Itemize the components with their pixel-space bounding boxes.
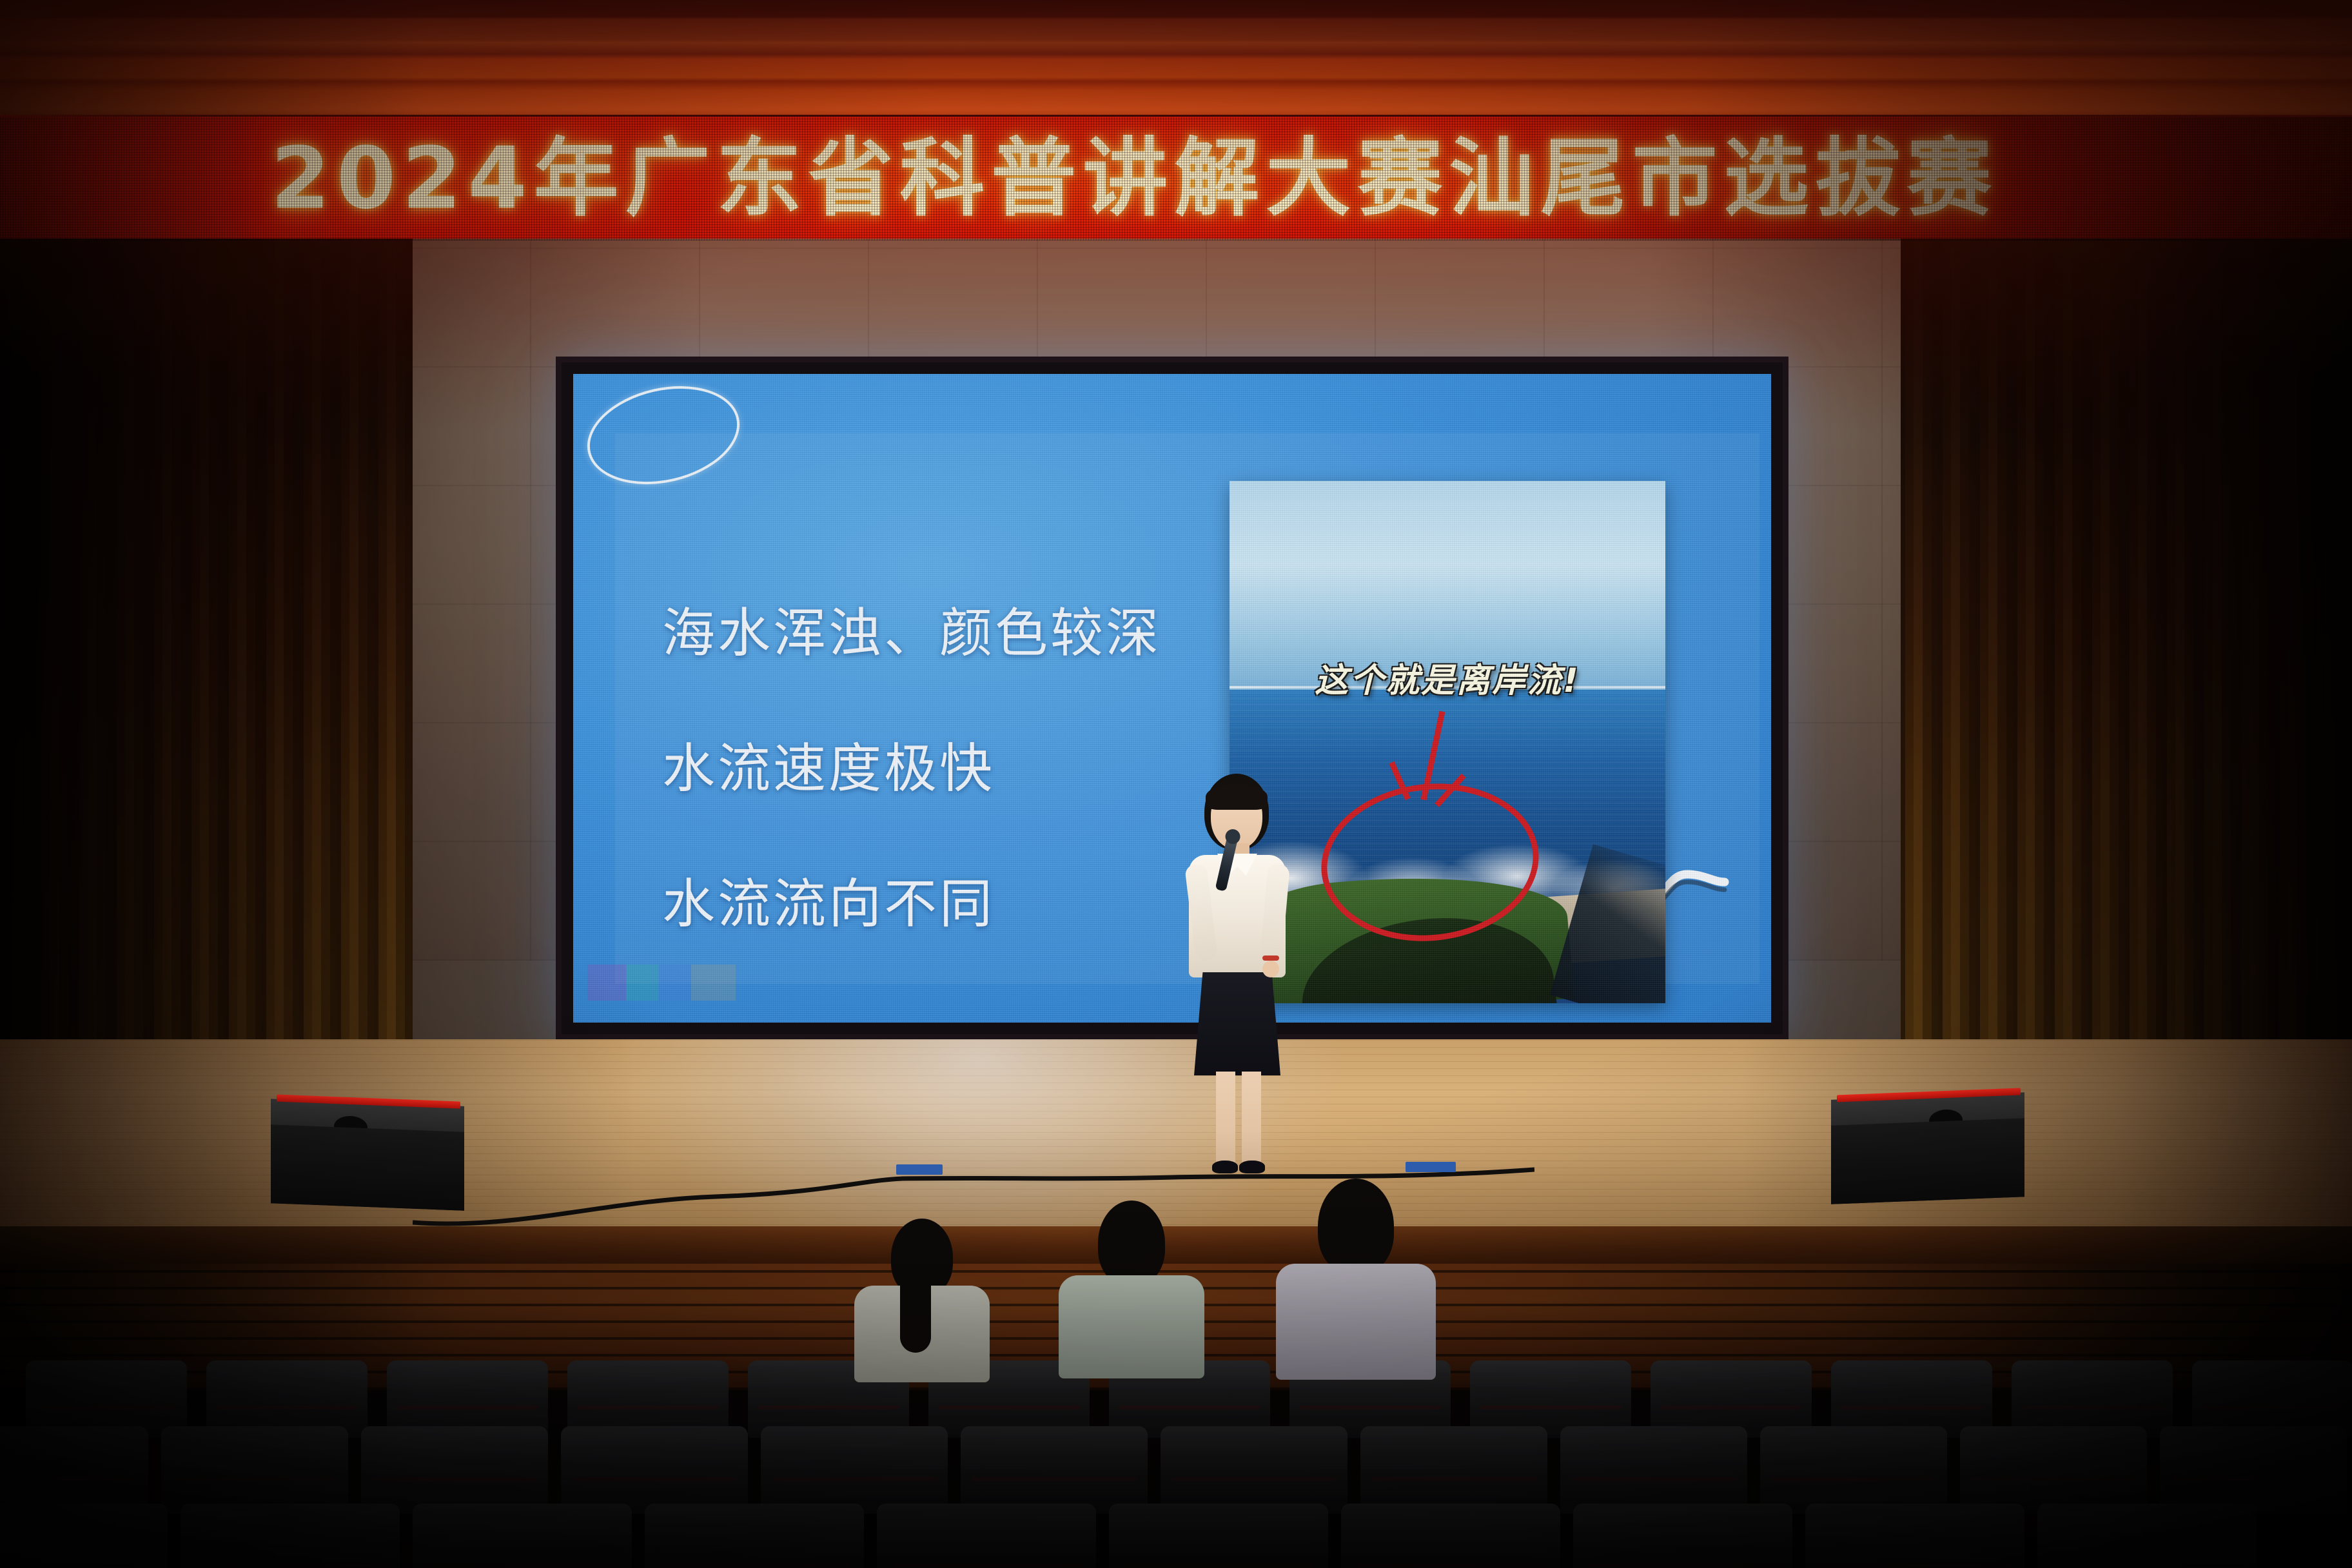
stage-curtain-left	[0, 239, 413, 1115]
seat	[0, 1426, 148, 1514]
monitor-face-right	[1831, 1118, 2024, 1204]
seat	[1573, 1504, 1792, 1568]
presenter-bracelet	[1262, 955, 1279, 961]
slide-bullet-3: 水流流向不同	[662, 874, 1161, 936]
audience-member-3	[1275, 1179, 1436, 1372]
seat	[413, 1504, 632, 1568]
seat	[1360, 1426, 1547, 1514]
audience-member-2	[1057, 1200, 1206, 1375]
presenter-leg-left	[1216, 1072, 1235, 1168]
seat	[161, 1426, 348, 1514]
seat	[1805, 1504, 2024, 1568]
monitor-face-left	[271, 1124, 464, 1211]
seat	[361, 1426, 548, 1514]
ceiling-bands	[0, 0, 2352, 132]
auditorium-stage-photo: 2024年广东省科普讲解大赛汕尾市选拔赛 海水浑浊、颜色较深 水流速度极快 水流…	[0, 0, 2352, 1568]
slide-bullet-1: 海水浑浊、颜色较深	[662, 603, 1161, 665]
screen-artifact	[587, 965, 736, 1001]
presenter-shoe-left	[1212, 1161, 1238, 1173]
seat	[0, 1504, 168, 1568]
seat	[181, 1504, 400, 1568]
floor-box-1	[896, 1164, 943, 1175]
presenter-leg-right	[1242, 1072, 1261, 1168]
presenter-skirt	[1194, 972, 1280, 1075]
audience-body-3	[1276, 1264, 1436, 1380]
seat	[761, 1426, 948, 1514]
audience-ponytail-1	[900, 1269, 931, 1353]
seat	[1109, 1504, 1328, 1568]
seat	[1760, 1426, 1947, 1514]
audience-head-3	[1318, 1179, 1394, 1274]
stage-curtain-right	[1901, 239, 2352, 1115]
seat	[2160, 1426, 2347, 1514]
stage-monitor-right	[1831, 1092, 2024, 1204]
auditorium-seating-area	[0, 1264, 2352, 1568]
slide-bullet-2: 水流速度极快	[662, 738, 1161, 800]
seat	[1341, 1504, 1560, 1568]
seat	[2037, 1504, 2257, 1568]
presenter	[1154, 774, 1322, 1135]
seat	[877, 1504, 1096, 1568]
presenter-shoe-right	[1239, 1161, 1265, 1173]
seat	[1960, 1426, 2147, 1514]
slide-bullet-list: 海水浑浊、颜色较深 水流速度极快 水流流向不同	[662, 603, 1161, 1009]
presenter-fringe	[1206, 784, 1268, 810]
led-banner-vignette	[0, 117, 2352, 240]
audience-body-2	[1059, 1275, 1204, 1378]
seat	[645, 1504, 864, 1568]
seat	[1161, 1426, 1347, 1514]
audience-head-2	[1098, 1200, 1165, 1286]
floor-box-2	[1406, 1162, 1456, 1172]
seat	[561, 1426, 748, 1514]
presenter-hand	[1262, 961, 1279, 977]
stage-monitor-left	[271, 1099, 464, 1211]
audience-member-1	[851, 1219, 993, 1380]
photo-caption: 这个就是离岸流!	[1230, 653, 1665, 701]
led-banner: 2024年广东省科普讲解大赛汕尾市选拔赛	[0, 115, 2352, 244]
seat	[1560, 1426, 1747, 1514]
seat	[961, 1426, 1148, 1514]
